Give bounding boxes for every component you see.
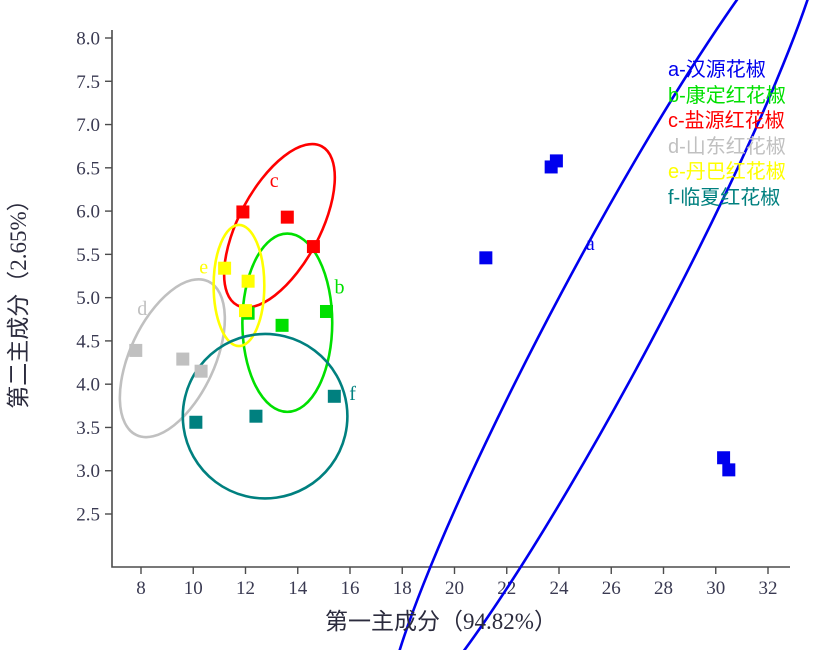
cluster-tag-a: a: [586, 233, 595, 255]
x-tick-label: 10: [184, 578, 203, 599]
x-tick-label: 14: [288, 578, 308, 599]
y-tick-label: 2.5: [76, 505, 100, 526]
data-points: [129, 154, 735, 476]
x-tick-label: 16: [341, 578, 360, 599]
data-point-f: [328, 390, 341, 403]
data-point-e: [239, 304, 252, 317]
legend-item-b: b-康定红花椒: [668, 84, 813, 110]
data-point-a: [717, 451, 730, 464]
y-tick-label: 5.0: [76, 288, 100, 309]
cluster-tag-f: f: [349, 383, 356, 405]
y-tick-label: 6.5: [76, 158, 100, 179]
data-point-d: [129, 344, 142, 357]
data-point-f: [249, 410, 262, 423]
y-tick-label: 8.0: [76, 29, 100, 50]
data-point-d: [176, 353, 189, 366]
y-tick-label: 6.0: [76, 202, 100, 223]
data-point-a: [550, 154, 563, 167]
data-point-d: [195, 365, 208, 378]
y-tick-label: 3.0: [76, 461, 100, 482]
cluster-tag-c: c: [270, 170, 279, 192]
cluster-ellipse-d: [98, 263, 246, 453]
pca-score-plot: 8.07.57.06.56.05.55.04.54.03.53.02.58101…: [0, 0, 813, 650]
x-tick-label: 8: [136, 578, 146, 599]
data-point-a: [722, 463, 735, 476]
y-tick-label: 7.0: [76, 115, 100, 136]
cluster-tag-e: e: [199, 256, 208, 278]
legend-item-c: c-盐源红花椒: [668, 109, 813, 135]
data-point-e: [242, 275, 255, 288]
y-tick-label: 4.0: [76, 375, 100, 396]
legend: a-汉源花椒b-康定红花椒c-盐源红花椒d-山东红花椒e-丹巴红花椒f-临夏红花…: [668, 58, 813, 211]
data-point-c: [307, 240, 320, 253]
data-point-c: [281, 211, 294, 224]
cluster-ellipse-e: [214, 225, 265, 346]
x-tick-label: 32: [759, 578, 778, 599]
data-point-c: [236, 205, 249, 218]
cluster-tag-b: b: [335, 276, 345, 298]
data-point-a: [479, 251, 492, 264]
y-axis-title: 第二主成分（2.65%）: [6, 188, 31, 408]
cluster-tag-d: d: [137, 298, 147, 320]
data-point-b: [320, 305, 333, 318]
legend-item-a: a-汉源花椒: [668, 58, 813, 84]
x-tick-label: 20: [445, 578, 464, 599]
x-tick-label: 24: [550, 578, 570, 599]
y-tick-label: 3.5: [76, 418, 100, 439]
legend-item-e: e-丹巴红花椒: [668, 160, 813, 186]
x-tick-label: 28: [654, 578, 673, 599]
x-tick-label: 30: [706, 578, 725, 599]
data-point-b: [276, 319, 289, 332]
x-tick-label: 26: [602, 578, 621, 599]
y-tick-label: 5.5: [76, 245, 100, 266]
x-tick-label: 12: [236, 578, 255, 599]
x-tick-label: 18: [393, 578, 412, 599]
y-tick-label: 7.5: [76, 72, 100, 93]
y-tick-label: 4.5: [76, 331, 100, 352]
data-point-e: [218, 262, 231, 275]
data-point-f: [189, 416, 202, 429]
legend-item-f: f-临夏红花椒: [668, 186, 813, 212]
legend-item-d: d-山东红花椒: [668, 135, 813, 161]
x-axis-title: 第一主成分（94.82%）: [325, 609, 557, 634]
